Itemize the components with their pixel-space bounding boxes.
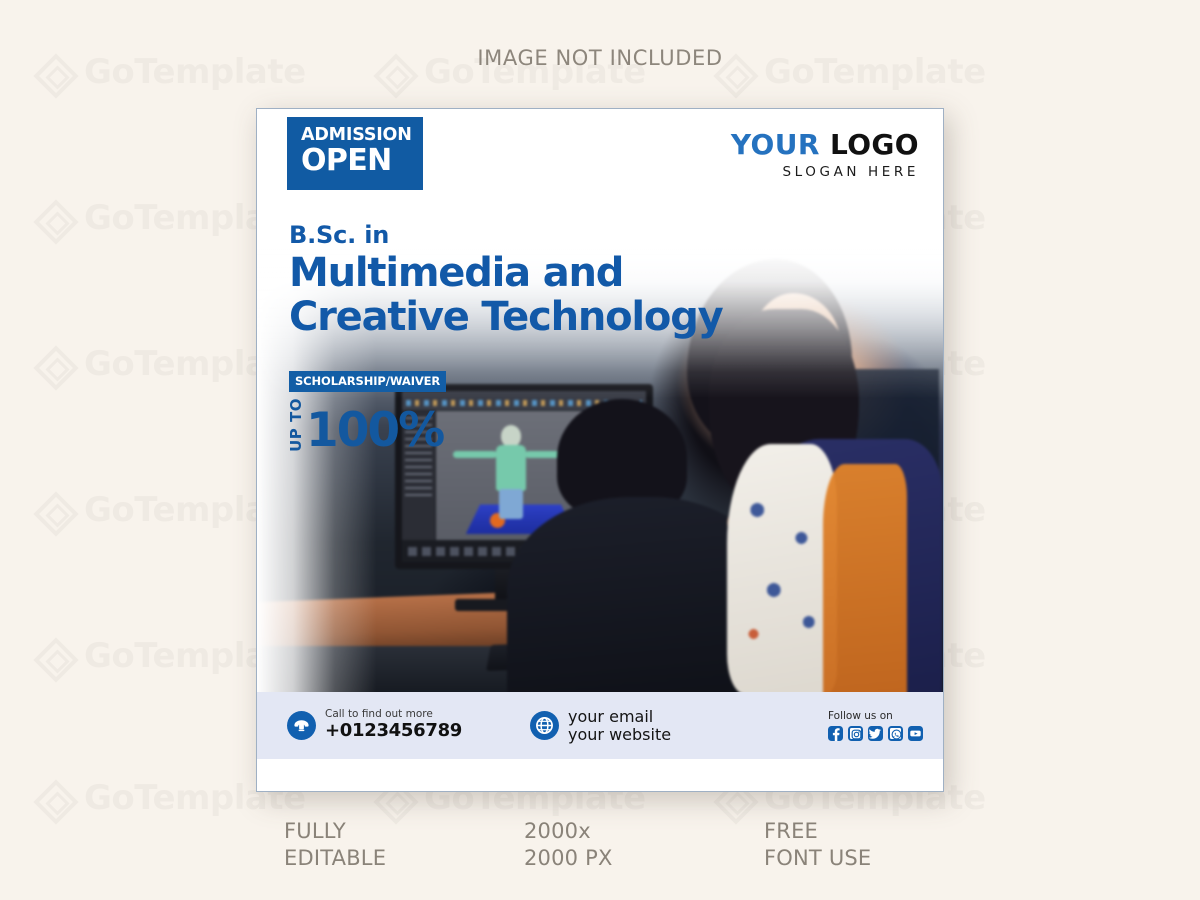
headline-line-2: Creative Technology (289, 295, 723, 339)
admission-open-badge[interactable]: ADMISSION OPEN (287, 117, 423, 190)
diamond-logo-icon (40, 781, 74, 815)
feature-1-line-2: EDITABLE (284, 845, 524, 872)
web-email-line: your email (568, 708, 671, 726)
web-group[interactable]: your email your website (530, 708, 671, 744)
contact-text: Call to find out more +0123456789 (325, 709, 462, 741)
contact-group[interactable]: Call to find out more +0123456789 (287, 709, 462, 741)
headline-eyebrow: B.Sc. in (289, 221, 723, 249)
headline-line-1: Multimedia and (289, 251, 723, 295)
scholarship-tag: SCHOLARSHIP/WAIVER (289, 371, 446, 392)
poster-bottom-white-strip (257, 759, 944, 791)
twitter-icon[interactable] (868, 726, 883, 741)
diamond-logo-icon (40, 201, 74, 235)
logo-wordmark: YOUR LOGO (731, 131, 919, 159)
brand-logo[interactable]: YOUR LOGO SLOGAN HERE (731, 131, 919, 180)
feature-free-font: FREE FONT USE (764, 818, 1004, 872)
contact-phone-number: +0123456789 (325, 721, 462, 742)
feature-dimensions: 2000x 2000 PX (524, 818, 764, 872)
feature-3-line-1: FREE (764, 818, 1004, 845)
diamond-logo-icon (40, 347, 74, 381)
image-not-included-caption: IMAGE NOT INCLUDED (0, 46, 1200, 70)
youtube-icon[interactable] (908, 726, 923, 741)
logo-slogan: SLOGAN HERE (731, 164, 919, 180)
feature-fully-editable: FULLY EDITABLE (284, 818, 524, 872)
diamond-logo-icon (40, 493, 74, 527)
poster-footer-bar: Call to find out more +0123456789 your e… (257, 692, 944, 759)
logo-word-your: YOUR (731, 128, 820, 161)
social-icon-list (828, 726, 923, 741)
phone-icon (287, 711, 316, 740)
web-text: your email your website (568, 708, 671, 744)
poster-preview-card[interactable]: ADMISSION OPEN YOUR LOGO SLOGAN HERE B.S… (256, 108, 944, 792)
admission-badge-line-1: ADMISSION (301, 127, 411, 145)
template-feature-row: FULLY EDITABLE 2000x 2000 PX FREE FONT U… (0, 818, 1200, 872)
whatsapp-icon[interactable] (888, 726, 903, 741)
scholarship-amount-row: UP TO 100% (289, 395, 446, 452)
globe-icon (530, 711, 559, 740)
facebook-icon[interactable] (828, 726, 843, 741)
feature-1-line-1: FULLY (284, 818, 524, 845)
feature-3-line-2: FONT USE (764, 845, 1004, 872)
feature-2-line-1: 2000x (524, 818, 764, 845)
poster-headline: B.Sc. in Multimedia and Creative Technol… (289, 221, 723, 339)
social-group: Follow us on (828, 710, 923, 741)
logo-word-logo: LOGO (830, 128, 919, 161)
scholarship-callout: SCHOLARSHIP/WAIVER UP TO 100% (289, 371, 446, 452)
admission-badge-line-2: OPEN (301, 145, 411, 177)
feature-2-line-2: 2000 PX (524, 845, 764, 872)
scholarship-percent-value: 100% (306, 409, 443, 452)
scholarship-up-to-label: UP TO (289, 395, 304, 452)
diamond-logo-icon (40, 639, 74, 673)
social-follow-label: Follow us on (828, 710, 923, 722)
web-website-line: your website (568, 726, 671, 744)
instagram-icon[interactable] (848, 726, 863, 741)
